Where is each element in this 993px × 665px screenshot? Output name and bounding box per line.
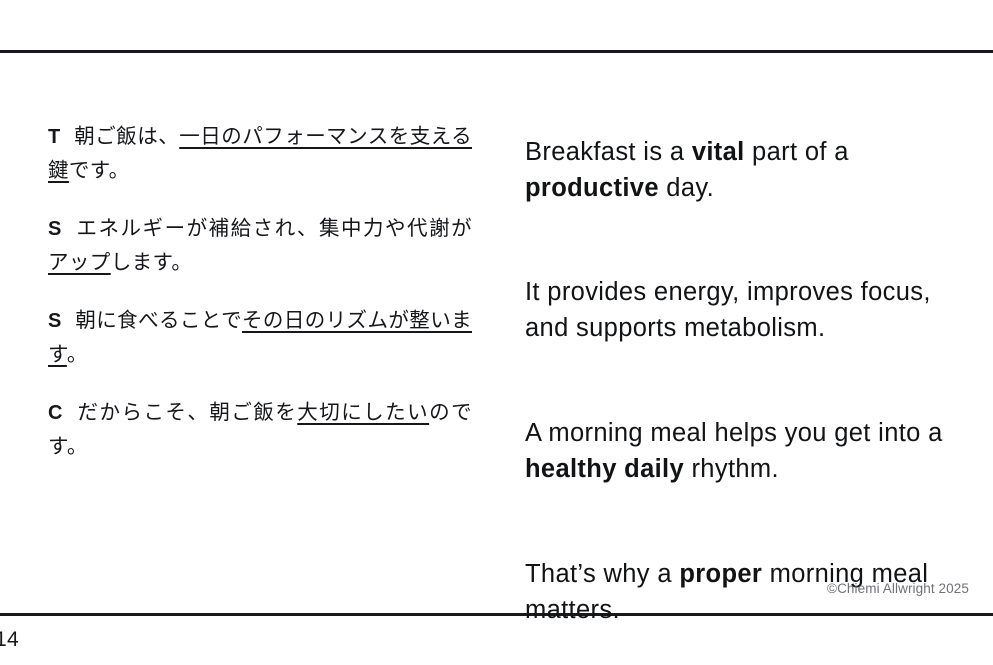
english-segment-bold: vital [692,138,745,166]
english-paragraph-3: A morning meal helps you get into a heal… [525,415,977,487]
japanese-paragraph-4: Cだからこそ、朝ご飯を大切にしたいのです。 [48,396,472,463]
english-column: Breakfast is a vital part of a productiv… [525,112,977,654]
japanese-segment-plain: だからこそ、朝ご飯を [76,400,297,424]
japanese-label-3: S [48,310,75,332]
japanese-paragraph-3: S朝に食べることでその日のリズムが整います。 [48,304,472,371]
english-segment-plain: That’s why a [525,560,679,588]
header-divider-rule [0,50,993,53]
japanese-label-1: T [48,126,74,148]
japanese-segment-plain: エネルギーが補給され、集中力や代謝が [75,216,472,240]
japanese-segment-underlined: アップ [48,250,111,274]
english-segment-plain: A morning meal helps you get into a [525,419,943,447]
page-number: 14 [0,628,19,652]
two-column-body: T朝ご飯は、一日のパフォーマンスを支える鍵です。 Sエネルギーが補給され、集中力… [0,112,993,592]
english-paragraph-2: It provides energy, improves focus, and … [525,274,977,346]
english-segment-bold: productive [525,174,659,202]
english-segment-plain: part of a [745,138,849,166]
japanese-segment-plain: です。 [69,158,130,182]
english-segment-plain: It provides energy, improves focus, and … [525,278,931,342]
english-segment-bold: proper [679,560,762,588]
japanese-paragraph-1: T朝ご飯は、一日のパフォーマンスを支える鍵です。 [48,120,472,187]
english-segment-bold: healthy daily [525,455,684,483]
japanese-label-2: S [48,218,75,240]
japanese-paragraph-2: Sエネルギーが補給され、集中力や代謝がアップします。 [48,212,472,279]
japanese-label-4: C [48,402,76,424]
english-segment-plain: Breakfast is a [525,138,692,166]
japanese-segment-plain: します。 [111,250,193,274]
english-segment-plain: day. [659,174,714,202]
english-segment-plain: rhythm. [684,455,779,483]
japanese-column: T朝ご飯は、一日のパフォーマンスを支える鍵です。 Sエネルギーが補給され、集中力… [48,112,472,484]
copyright-notice: ©Chiemi Allwright 2025 [827,581,969,596]
english-paragraph-1: Breakfast is a vital part of a productiv… [525,134,977,206]
japanese-segment-plain: 朝に食べることで [75,308,242,332]
japanese-segment-plain: 朝ご飯は、 [74,124,179,148]
japanese-segment-plain: 。 [67,342,88,366]
japanese-segment-underlined: 大切にしたい [297,400,429,424]
slide-canvas: T朝ご飯は、一日のパフォーマンスを支える鍵です。 Sエネルギーが補給され、集中力… [0,0,993,665]
